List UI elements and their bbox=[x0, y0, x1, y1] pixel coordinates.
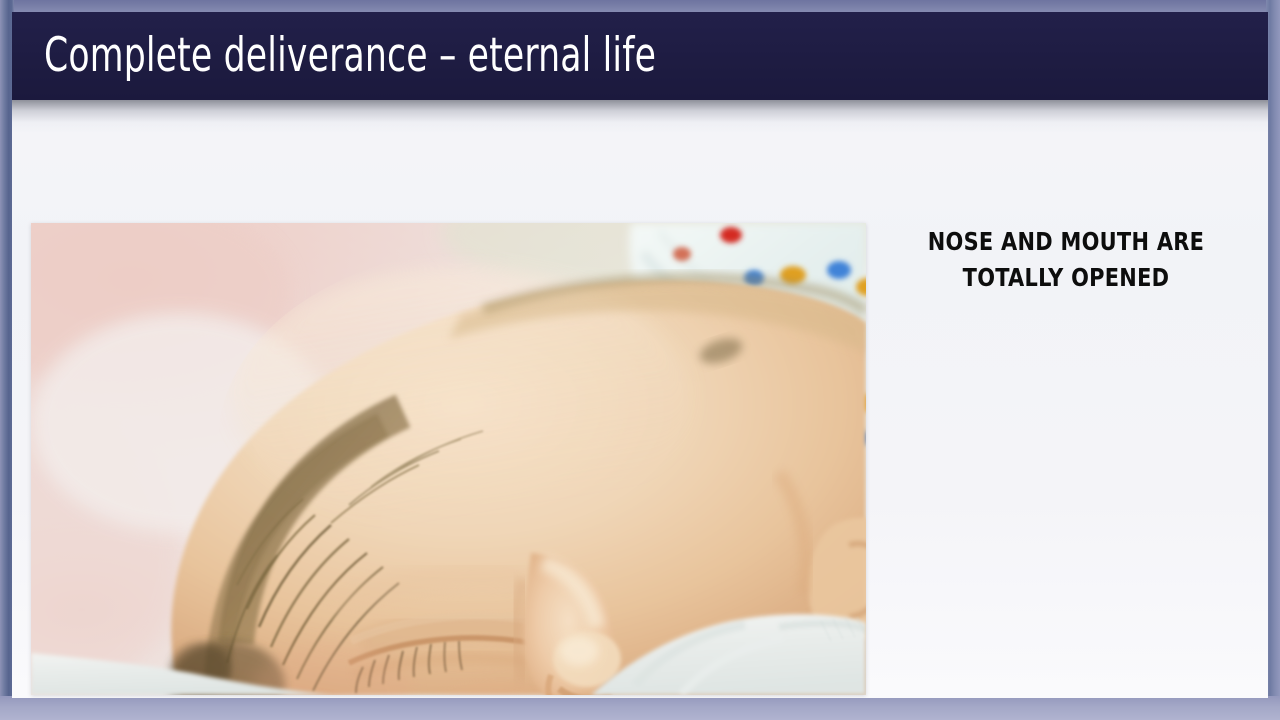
caption-line-1: NOSE AND MOUTH ARE bbox=[891, 224, 1241, 260]
frame-top-edge bbox=[0, 0, 1280, 12]
caption-line-2: TOTALLY OPENED bbox=[891, 260, 1241, 296]
title-band-shadow bbox=[12, 100, 1268, 134]
page-title: Complete deliverance – eternal life bbox=[44, 26, 656, 86]
frame-bottom-edge bbox=[0, 696, 1280, 720]
frame-right-edge bbox=[1266, 0, 1280, 720]
baby-photo bbox=[31, 223, 866, 695]
slide-canvas: Complete deliverance – eternal life bbox=[12, 12, 1268, 698]
slide-frame: Complete deliverance – eternal life bbox=[0, 0, 1280, 720]
baby-photo-illustration bbox=[31, 223, 866, 695]
caption-block: NOSE AND MOUTH ARE TOTALLY OPENED bbox=[878, 224, 1254, 296]
title-band: Complete deliverance – eternal life bbox=[12, 12, 1268, 100]
